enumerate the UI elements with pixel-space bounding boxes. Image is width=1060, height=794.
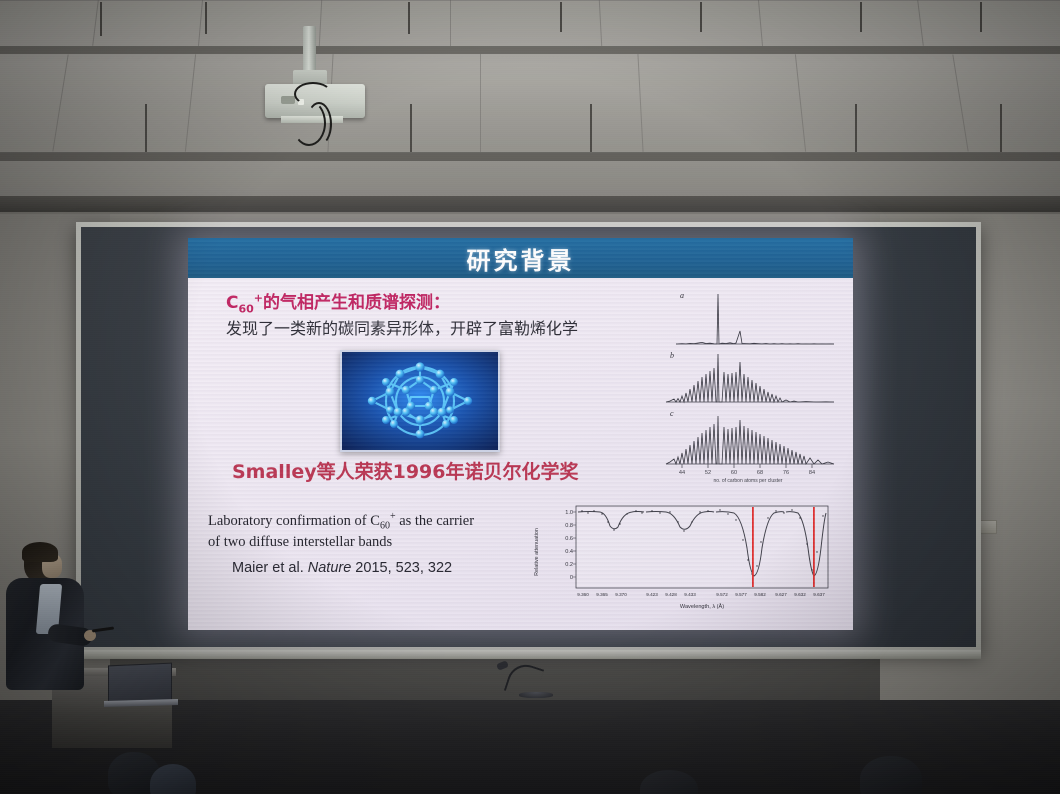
formula-superscript: + [254, 291, 263, 304]
svg-text:9.428: 9.428 [665, 592, 677, 597]
svg-text:9.582: 9.582 [754, 592, 766, 597]
svg-text:68: 68 [757, 470, 763, 476]
svg-text:9.627: 9.627 [775, 592, 787, 597]
english-title-sub: 60 [380, 521, 390, 532]
svg-text:0.6: 0.6 [565, 536, 573, 542]
slide-title-bar: 研究背景 [188, 238, 853, 278]
citation-author: Maier et al. [232, 560, 308, 576]
svg-text:9.360: 9.360 [577, 592, 589, 597]
dib-attenuation-plot: 1.00.80.6 0.40.20 Relative attenuation [528, 500, 846, 618]
svg-text:9.433: 9.433 [684, 592, 696, 597]
slide-body-text: 发现了一类新的碳同素异形体，开辟了富勒烯化学 [226, 318, 586, 340]
slide-english-title: Laboratory confirmation of C60+ as the c… [208, 510, 553, 552]
svg-text:c: c [670, 409, 674, 418]
attenuation-svg: 1.00.80.6 0.40.20 Relative attenuation [528, 500, 846, 618]
svg-text:44: 44 [679, 470, 685, 476]
english-title-part1: Laboratory confirmation of C [208, 513, 380, 529]
red-marker-1 [752, 507, 754, 587]
svg-text:b: b [670, 351, 674, 360]
svg-text:9.637: 9.637 [813, 592, 825, 597]
c60-molecule-image [340, 350, 500, 452]
red-heading-text: 的气相产生和质谱探测： [263, 293, 450, 313]
svg-text:Wavelength, λ (Å): Wavelength, λ (Å) [680, 603, 724, 610]
svg-text:9.423: 9.423 [646, 592, 658, 597]
carbon-cluster-mass-spectrum: a b c 445260 687684 no. of carbon atoms … [656, 286, 841, 486]
svg-text:9.577: 9.577 [735, 592, 747, 597]
svg-text:0.4: 0.4 [565, 549, 573, 555]
svg-text:1.0: 1.0 [565, 510, 573, 516]
english-title-part2: as the carrier [396, 513, 475, 529]
svg-text:9.572: 9.572 [716, 592, 728, 597]
c60-svg [342, 352, 498, 450]
svg-text:60: 60 [731, 470, 737, 476]
mass-spectrum-svg: a b c 445260 687684 no. of carbon atoms … [656, 286, 841, 486]
slide-title-text: 研究背景 [467, 241, 575, 276]
svg-text:a: a [680, 291, 684, 300]
svg-text:9.370: 9.370 [615, 592, 627, 597]
projector-lens-icon [281, 96, 295, 104]
svg-text:no. of carbon atoms per cluste: no. of carbon atoms per cluster [714, 478, 783, 484]
citation-rest: 2015, 523, 322 [351, 560, 452, 576]
svg-text:9.632: 9.632 [794, 592, 806, 597]
svg-text:52: 52 [705, 470, 711, 476]
svg-text:0: 0 [570, 575, 573, 581]
svg-text:0.8: 0.8 [565, 523, 573, 529]
projected-slide: 研究背景 C60+的气相产生和质谱探测： 发现了一类新的碳同素异形体，开辟了富勒… [188, 238, 853, 630]
slide-smalley-line: Smalley等人荣获1996年诺贝尔化学奖 [232, 457, 578, 484]
svg-text:9.365: 9.365 [596, 592, 608, 597]
wall-outlet [980, 520, 997, 534]
formula-subscript: 60 [238, 302, 253, 315]
projector-cable-loop-2 [306, 102, 332, 146]
presenter [2, 540, 98, 720]
blackboard-chalk-tray [76, 650, 981, 659]
svg-text:76: 76 [783, 470, 789, 476]
red-marker-2 [813, 507, 815, 587]
presenter-hair [22, 542, 58, 562]
svg-text:84: 84 [809, 470, 815, 476]
ceiling [0, 0, 1060, 214]
slide-citation: Maier et al. Nature 2015, 523, 322 [232, 560, 452, 576]
slide-red-heading: C60+的气相产生和质谱探测： [226, 288, 450, 315]
lecture-hall-photo: 研究背景 C60+的气相产生和质谱探测： 发现了一类新的碳同素异形体，开辟了富勒… [0, 0, 1060, 794]
svg-text:0.2: 0.2 [565, 562, 573, 568]
formula-c: C [226, 293, 238, 313]
citation-journal: Nature [308, 560, 352, 576]
audience-head [860, 756, 922, 794]
svg-text:Relative attenuation: Relative attenuation [534, 528, 540, 576]
english-title-line2: of two diffuse interstellar bands [208, 534, 392, 550]
